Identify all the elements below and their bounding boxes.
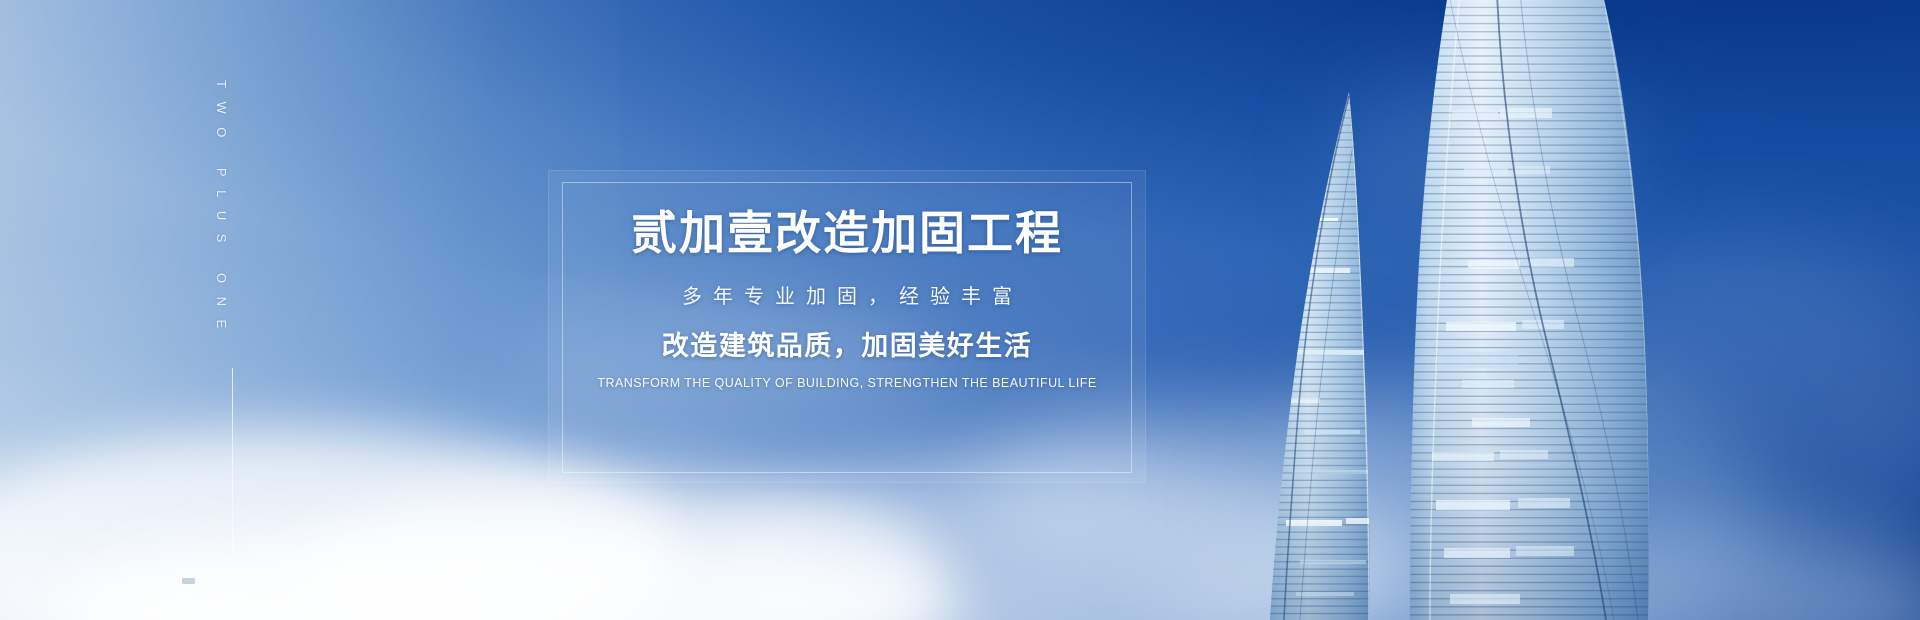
decorative-dash-mark — [182, 578, 195, 584]
brand-vertical-text: TWO PLUS ONE — [210, 80, 232, 342]
hero-headline: 贰加壹改造加固工程 — [631, 209, 1063, 258]
hero-subline: 多年专业加固，经验丰富 — [671, 284, 1023, 310]
hero-tagline: 改造建筑品质，加固美好生活 — [662, 330, 1033, 362]
vertical-divider-line — [232, 368, 233, 620]
hero-english-line: TRANSFORM THE QUALITY OF BUILDING, STREN… — [597, 376, 1096, 390]
hero-banner: TWO PLUS ONE 贰加壹改造加固工程 多年专业加固，经验丰富 改造建筑品… — [0, 0, 1920, 620]
sky-left-wash — [0, 0, 620, 620]
hero-copy-block: 贰加壹改造加固工程 多年专业加固，经验丰富 改造建筑品质，加固美好生活 TRAN… — [548, 170, 1146, 483]
